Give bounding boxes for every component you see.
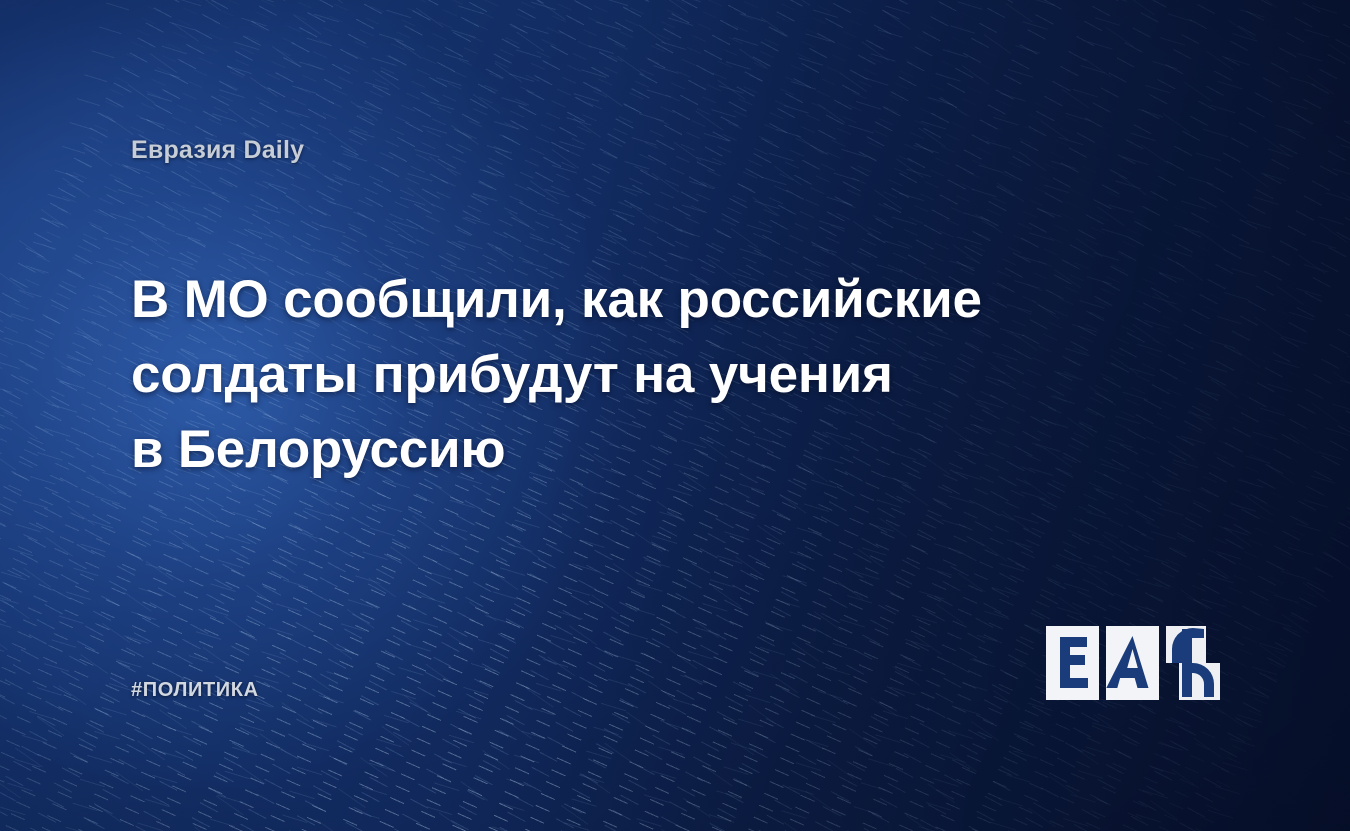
headline-line-3: в Белоруссию (131, 412, 1061, 487)
site-name: Евразия Daily (131, 136, 304, 165)
ead-logo (1046, 626, 1220, 700)
news-card: Евразия Daily В МО сообщили, как российс… (0, 0, 1350, 831)
rubric-tag[interactable]: #ПОЛИТИКА (131, 679, 259, 702)
page-title: В МО сообщили, как российские солдаты пр… (131, 262, 1061, 487)
ead-logo-icon (1046, 626, 1220, 700)
headline-line-1: В МО сообщили, как российские (131, 262, 1061, 337)
card-content: Евразия Daily В МО сообщили, как российс… (0, 0, 1350, 831)
headline-line-2: солдаты прибудут на учения (131, 337, 1061, 412)
